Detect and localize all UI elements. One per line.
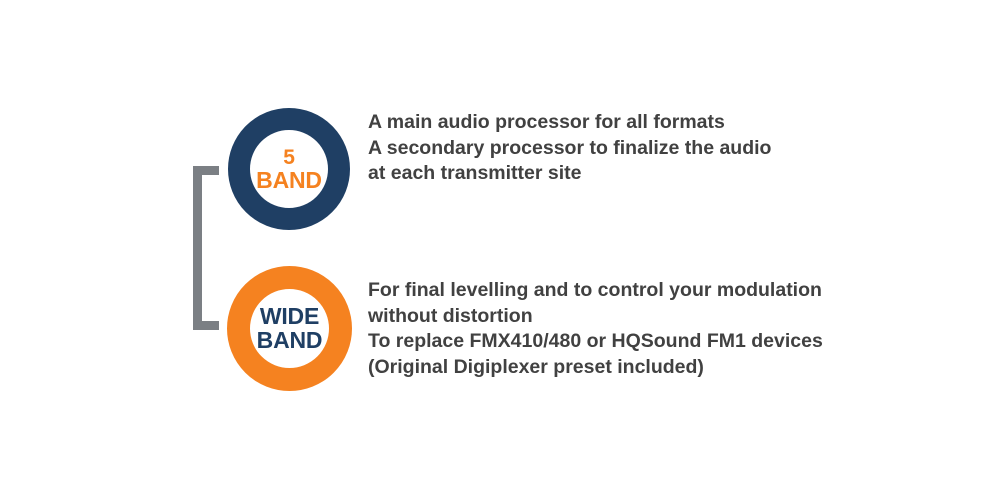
description-5-band-line-1: A main audio processor for all formats	[368, 110, 771, 136]
description-5-band: A main audio processor for all formats A…	[368, 110, 771, 187]
description-wide-band-line-2: without distortion	[368, 304, 823, 330]
description-wide-band-line-4: (Original Digiplexer preset included)	[368, 355, 823, 381]
badge-wide-band-label: WIDE BAND	[257, 305, 323, 352]
description-wide-band: For final levelling and to control your …	[368, 278, 823, 380]
badge-wide-band-line-1: WIDE	[257, 305, 323, 328]
group-bracket-icon	[193, 166, 219, 330]
description-5-band-line-2: A secondary processor to finalize the au…	[368, 136, 771, 162]
badge-5-band-line-1: 5	[256, 147, 322, 168]
badge-wide-band: WIDE BAND	[227, 266, 352, 391]
badge-5-band-label: 5 BAND	[256, 147, 322, 192]
diagram-canvas: 5 BAND WIDE BAND A main audio processor …	[0, 0, 1000, 500]
description-wide-band-line-3: To replace FMX410/480 or HQSound FM1 dev…	[368, 329, 823, 355]
badge-5-band-line-2: BAND	[256, 169, 322, 192]
description-wide-band-line-1: For final levelling and to control your …	[368, 278, 823, 304]
badge-5-band: 5 BAND	[228, 108, 350, 230]
description-5-band-line-3: at each transmitter site	[368, 161, 771, 187]
badge-wide-band-line-2: BAND	[257, 329, 323, 352]
